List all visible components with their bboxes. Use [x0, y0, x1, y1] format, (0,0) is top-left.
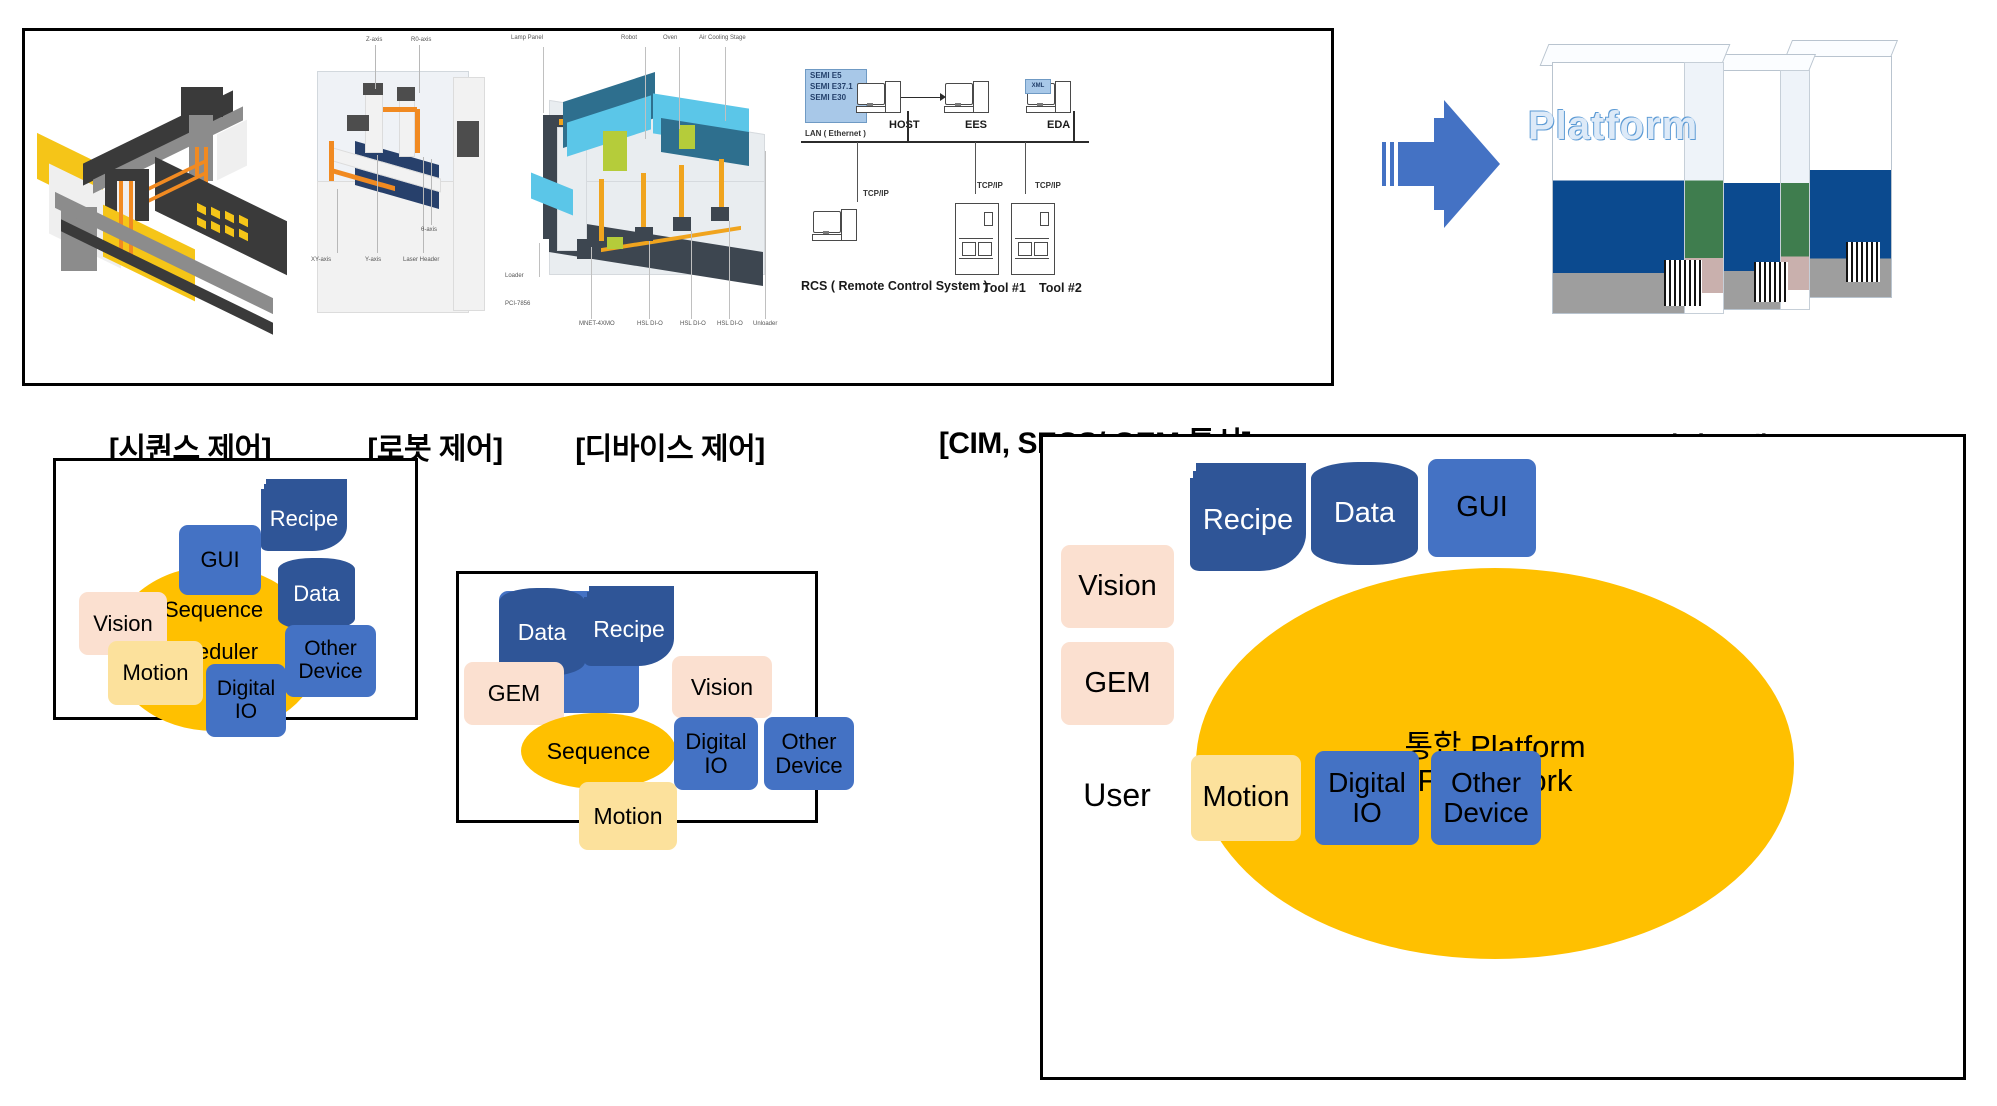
machine-label-pci-7856: PCI-7856	[505, 301, 530, 307]
tool-1-label: Tool #1	[983, 281, 1026, 295]
machine-label-y-axis: Y-axis	[365, 257, 381, 263]
machine-label-hsl-di-o: HSL DI-O	[717, 321, 743, 327]
machine-label-laser-header: Laser Header	[403, 257, 439, 263]
software-box-front	[1552, 62, 1722, 312]
data-shape[interactable]: Data	[1311, 462, 1418, 565]
other-device-shape[interactable]: Other Device	[1431, 751, 1541, 845]
equipment-photo-frame: Z-axisR0-axisθ-axisXY-axisY-axisLaser He…	[22, 28, 1334, 386]
digital-io-label: Digital IO	[685, 730, 746, 778]
other-device-shape[interactable]: Other Device	[764, 717, 854, 790]
gui-label: GUI	[1456, 492, 1508, 523]
machine-label-hsl-di-o: HSL DI-O	[680, 321, 706, 327]
node-label-ees: EES	[965, 119, 987, 131]
panel-legacy-architecture: Sequence Scheduler RecipeGUIDataVisionOt…	[53, 458, 418, 720]
digital-io-shape[interactable]: Digital IO	[206, 664, 286, 737]
sequence-label: Sequence	[547, 739, 651, 764]
other-device-shape[interactable]: Other Device	[285, 625, 376, 697]
vision-label: Vision	[1078, 571, 1156, 602]
machine-label-r0-axis: R0-axis	[411, 37, 431, 43]
vision-shape[interactable]: Vision	[672, 656, 772, 718]
legacy-sequence-label: Sequence	[164, 597, 263, 623]
user-shape: User	[1057, 765, 1177, 825]
motion-label: Motion	[122, 661, 188, 685]
gui-shape[interactable]: GUI	[179, 525, 261, 595]
motion-shape[interactable]: Motion	[108, 641, 203, 705]
tool-2-icon	[1011, 203, 1055, 275]
machine-label-loader: Loader	[505, 273, 524, 279]
data-label: Data	[293, 582, 339, 606]
tool2-drop-line	[1025, 142, 1026, 194]
tcpip-label-rcs: TCP/IP	[863, 189, 889, 198]
digital-io-shape[interactable]: Digital IO	[1315, 751, 1419, 845]
digital-io-label: Digital IO	[1328, 768, 1406, 828]
caption-device-control: [디바이스 제어]	[520, 424, 820, 468]
gui-shape[interactable]: GUI	[1428, 459, 1536, 557]
machine-label--axis: θ-axis	[421, 227, 437, 233]
recipe-label: Recipe	[261, 506, 347, 532]
user-label: User	[1083, 778, 1151, 813]
data-label: Data	[1334, 498, 1395, 529]
sequence-shape[interactable]: Sequence	[521, 713, 676, 789]
node-label-host: HOST	[889, 119, 920, 131]
vision-label: Vision	[93, 612, 153, 636]
tcpip-label-tool2: TCP/IP	[1035, 181, 1061, 190]
transform-arrow-top	[1382, 98, 1502, 230]
rcs-label: RCS ( Remote Control System )	[801, 279, 988, 293]
motion-label: Motion	[593, 804, 662, 829]
cim-secs-gem-network-diagram: SEMI E5 SEMI E37.1 SEMI E30 XML HOST EES…	[797, 31, 1097, 383]
vision-shape[interactable]: Vision	[1061, 545, 1174, 628]
sequence-control-illustration	[31, 31, 299, 383]
host-to-ees-arrow	[901, 97, 943, 98]
machine-label-hsl-di-o: HSL DI-O	[637, 321, 663, 327]
machine-label-robot: Robot	[621, 35, 637, 41]
motion-shape[interactable]: Motion	[579, 782, 677, 850]
gem-shape[interactable]: GEM	[1061, 642, 1174, 725]
platform-box-title: Platform	[1528, 104, 1698, 149]
digital-io-shape[interactable]: Digital IO	[674, 717, 758, 790]
vision-label: Vision	[691, 675, 753, 700]
data-shape[interactable]: Data	[278, 558, 355, 630]
lan-label: LAN ( Ethernet )	[805, 129, 866, 138]
machine-label-xy-axis: XY-axis	[311, 257, 331, 263]
tool-1-icon	[955, 203, 999, 275]
xml-badge: XML	[1025, 79, 1051, 94]
node-label-eda: EDA	[1047, 119, 1070, 131]
gem-shape[interactable]: GEM	[464, 662, 564, 725]
other-device-label: Other Device	[298, 638, 362, 683]
gui-label: GUI	[200, 548, 239, 572]
motion-shape[interactable]: Motion	[1191, 755, 1301, 841]
rcs-drop-line	[857, 142, 858, 202]
recipe-label: Recipe	[584, 616, 674, 643]
host-to-ees-arrowhead	[940, 93, 946, 101]
other-device-label: Other Device	[1443, 768, 1529, 828]
eda-drop-line	[1073, 111, 1075, 142]
machine-label-unloader: Unloader	[753, 321, 777, 327]
digital-io-label: Digital IO	[217, 678, 275, 723]
gem-label: GEM	[488, 681, 540, 706]
software-platform-boxes: Platform	[1498, 26, 1958, 326]
motion-label: Motion	[1202, 782, 1289, 813]
machine-label-air-cooling-stage: Air Cooling Stage	[699, 35, 746, 41]
machine-label-mnet-4xmo: MNET-4XMO	[579, 321, 615, 327]
lan-bus-line	[801, 141, 1089, 143]
tool-2-label: Tool #2	[1039, 281, 1082, 295]
gem-label: GEM	[1084, 668, 1150, 699]
robot-control-illustration: Z-axisR0-axisθ-axisXY-axisY-axisLaser He…	[303, 31, 499, 383]
recipe-shape[interactable]: Recipe	[584, 586, 674, 666]
host-drop-line	[907, 111, 909, 142]
recipe-shape[interactable]: Recipe	[1190, 463, 1306, 571]
recipe-label: Recipe	[1190, 504, 1306, 537]
recipe-shape[interactable]: Recipe	[261, 479, 347, 551]
panel-intermediate-architecture: GUIDataRecipeGEMVisionSequenceDigital IO…	[456, 571, 818, 823]
tcpip-label-tool1: TCP/IP	[977, 181, 1003, 190]
tool1-drop-line	[975, 142, 976, 194]
other-device-label: Other Device	[775, 730, 842, 778]
machine-label-z-axis: Z-axis	[366, 37, 382, 43]
machine-label-oven: Oven	[663, 35, 677, 41]
machine-label-lamp-panel: Lamp Panel	[511, 35, 543, 41]
panel-unified-platform-architecture: RecipeDataGUIVisionGEM통합 Platform Framew…	[1040, 434, 1966, 1080]
device-control-illustration: Lamp PanelRobotOvenAir Cooling StageLoad…	[503, 31, 793, 383]
data-label: Data	[518, 620, 567, 645]
semi-line-0: SEMI E5	[806, 70, 866, 81]
